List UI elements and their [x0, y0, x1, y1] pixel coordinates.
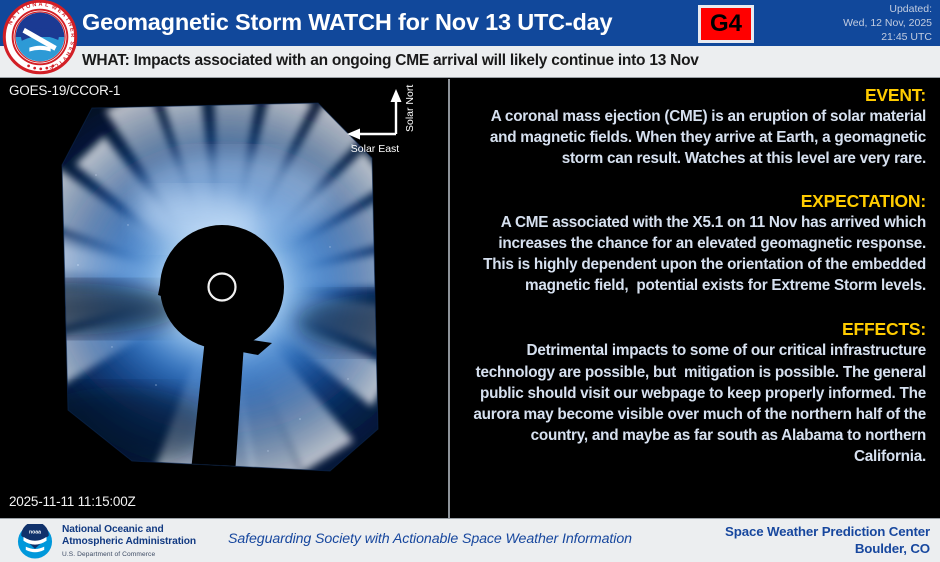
section-event-body: A coronal mass ejection (CME) is an erup…	[464, 106, 926, 170]
noaa-agency-text: National Oceanic and Atmospheric Adminis…	[62, 524, 196, 561]
noaa-agency-line-1: National Oceanic and	[62, 524, 196, 536]
solar-north-label: Solar North	[404, 84, 416, 132]
svg-text:noaa: noaa	[29, 530, 41, 536]
swpc-center-location: Boulder, CO	[725, 541, 930, 558]
section-expectation-heading: EXPECTATION:	[464, 191, 926, 212]
satellite-instrument-label: GOES-19/CCOR-1	[9, 83, 120, 98]
footer-tagline: Safeguarding Society with Actionable Spa…	[228, 531, 632, 547]
section-event: EVENT: A coronal mass ejection (CME) is …	[464, 85, 926, 170]
updated-timestamp: Updated: Wed, 12 Nov, 2025 21:45 UTC	[843, 2, 932, 45]
noaa-logo: noaa	[16, 524, 54, 559]
noaa-agency-line-2: Atmospheric Administration	[62, 536, 196, 548]
what-summary-bar: WHAT: Impacts associated with an ongoing…	[0, 46, 940, 78]
updated-date: Wed, 12 Nov, 2025	[843, 16, 932, 30]
alert-text-panel: EVENT: A coronal mass ejection (CME) is …	[452, 79, 940, 518]
footer-bar: noaa National Oceanic and Atmospheric Ad…	[0, 518, 940, 562]
coronagraph-image-panel: GOES-19/CCOR-1 2025-11-11 11:15:00Z Sola…	[0, 79, 450, 518]
svg-text:R: R	[69, 33, 75, 37]
national-weather-service-logo: N A T I O N A L W E A T H E R S E R V I	[2, 0, 78, 75]
updated-label: Updated:	[843, 2, 932, 16]
what-summary-text: WHAT: Impacts associated with an ongoing…	[82, 52, 699, 70]
section-event-heading: EVENT:	[464, 85, 926, 106]
g-scale-label: G4	[710, 12, 742, 36]
section-effects: EFFECTS: Detrimental impacts to some of …	[464, 319, 926, 467]
section-expectation: EXPECTATION: A CME associated with the X…	[464, 191, 926, 297]
swpc-attribution: Space Weather Prediction Center Boulder,…	[725, 524, 930, 557]
east-arrowhead	[347, 129, 360, 140]
solar-east-label: Solar East	[351, 143, 400, 155]
north-arrowhead	[391, 89, 402, 102]
updated-time: 21:45 UTC	[843, 30, 932, 44]
image-timestamp: 2025-11-11 11:15:00Z	[9, 494, 136, 509]
section-expectation-body: A CME associated with the X5.1 on 11 Nov…	[464, 212, 926, 297]
section-effects-heading: EFFECTS:	[464, 319, 926, 340]
status-badge-g-scale: G4	[698, 5, 754, 43]
swpc-alert-graphic: N A T I O N A L W E A T H E R S E R V I	[0, 0, 940, 562]
noaa-department-line: U.S. Department of Commerce	[62, 549, 196, 561]
section-effects-body: Detrimental impacts to some of our criti…	[464, 340, 926, 467]
header-bar: N A T I O N A L W E A T H E R S E R V I	[0, 0, 940, 46]
solar-orientation-compass: Solar North Solar East	[334, 84, 430, 160]
svg-text:A: A	[39, 2, 43, 8]
swpc-center-name: Space Weather Prediction Center	[725, 524, 930, 541]
page-title: Geomagnetic Storm WATCH for Nov 13 UTC-d…	[82, 9, 612, 36]
